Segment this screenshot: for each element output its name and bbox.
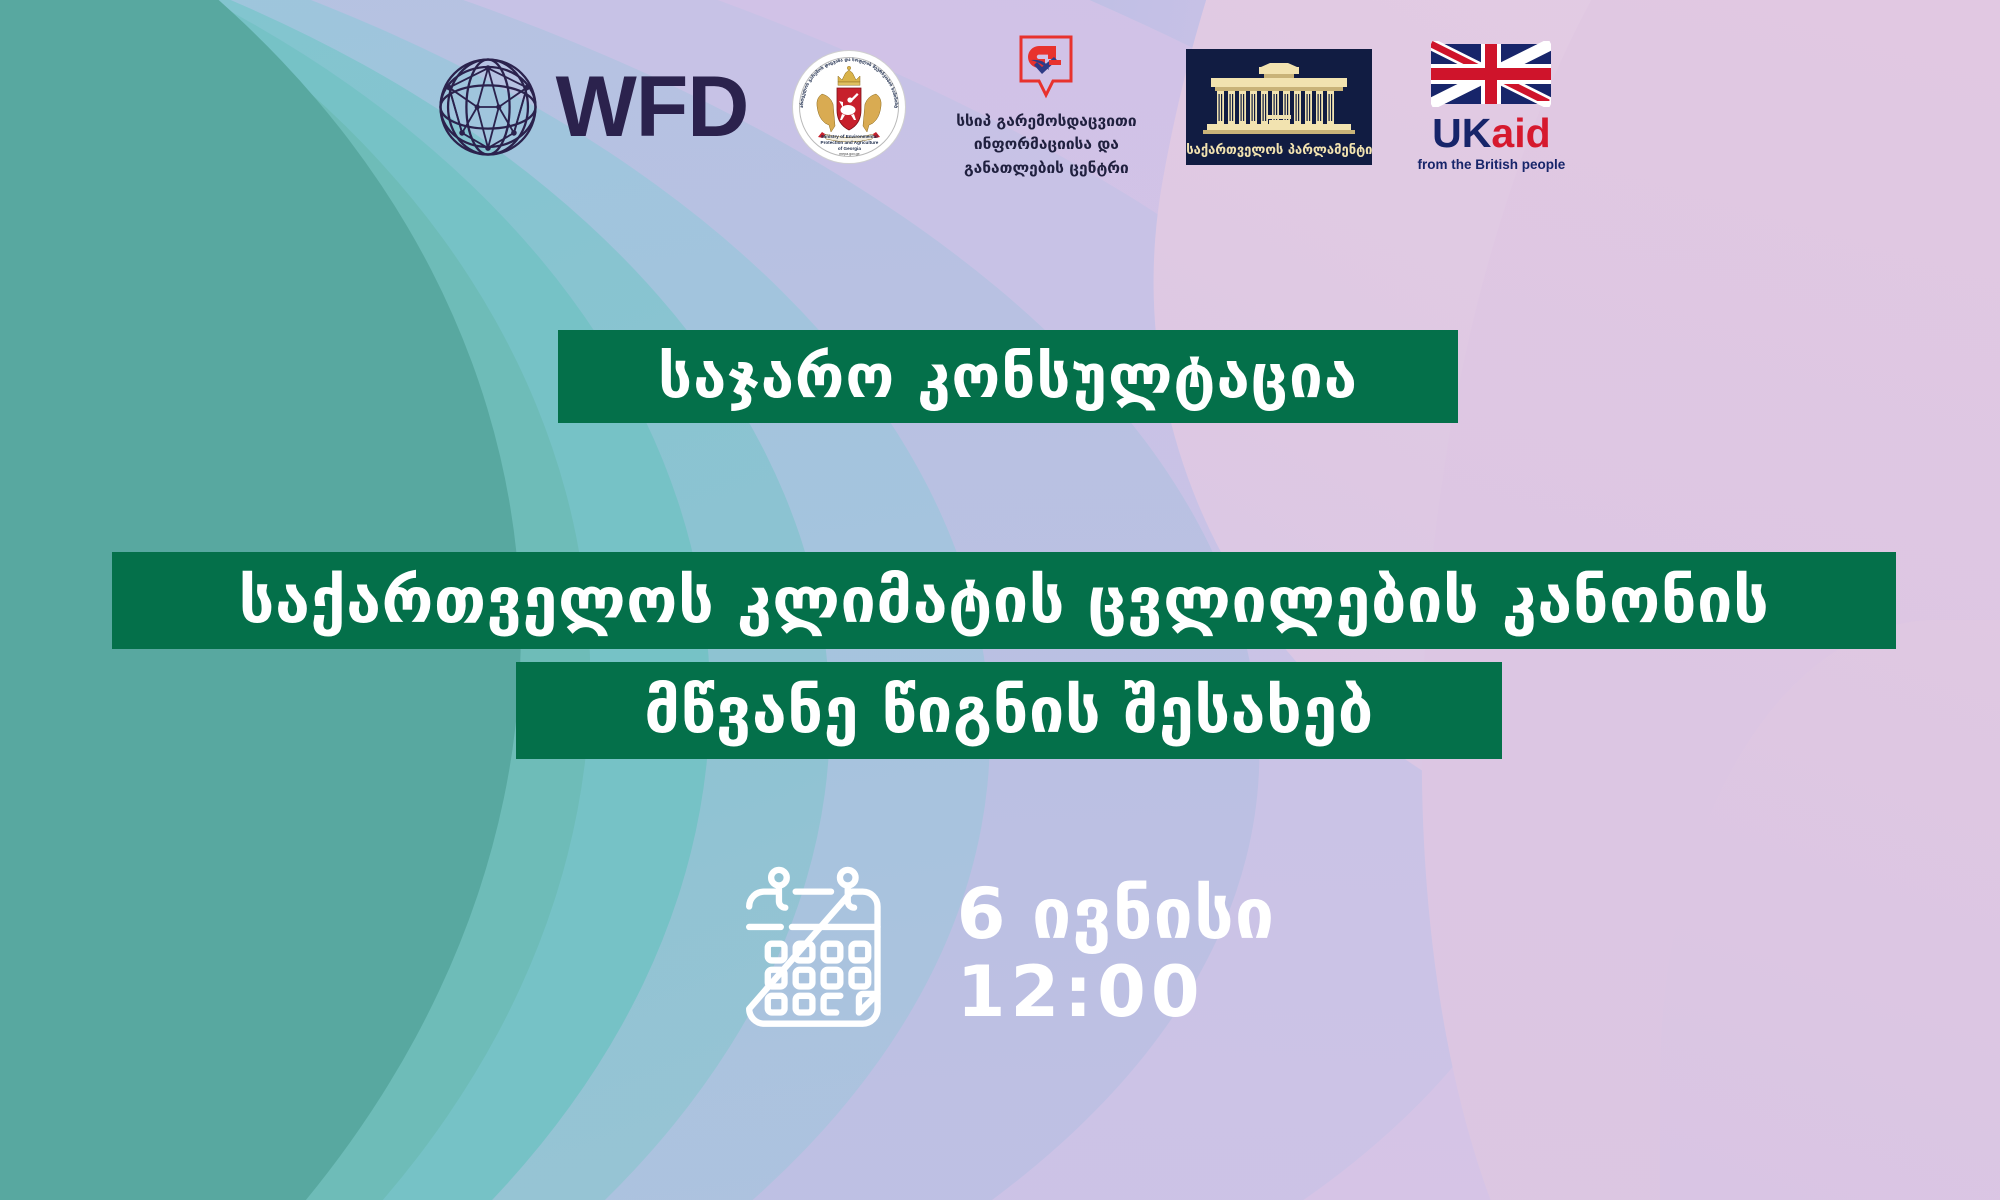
wfd-wordmark: WFD <box>556 64 749 150</box>
logo-ministry-seal: საქართველოს გარემოს დაცვისა და სოფლის მე… <box>792 50 906 164</box>
ukaid-tagline: from the British people <box>1418 157 1566 172</box>
globe-network-icon <box>434 53 542 161</box>
title-banner-line-2: მწვანე წიგნის შესახებ <box>516 662 1502 759</box>
event-time: 12:00 <box>957 953 1275 1031</box>
logo-parliament: საქართველოს პარლამენტი <box>1186 49 1372 165</box>
union-jack-flag-icon <box>1431 41 1551 107</box>
ukaid-wordmark: UKaid <box>1432 113 1550 154</box>
ukaid-aid-text: aid <box>1491 110 1550 156</box>
parliament-caption: საქართველოს პარლამენტი <box>1186 143 1372 158</box>
event-datetime-text: 6 ივნისი 12:00 <box>957 875 1275 1032</box>
eiec-caption-line-3: განათლების ცენტრი <box>956 157 1136 180</box>
parliament-building-icon <box>1195 63 1363 141</box>
title-banner-line-1: საქართველოს კლიმატის ცვლილების კანონის <box>112 552 1896 649</box>
partner-logo-row: WFD <box>0 34 2000 180</box>
seal-url: mepa.gov.ge <box>792 152 906 157</box>
kicker-banner: საჯარო კონსულტაცია <box>558 330 1458 423</box>
calendar-icon <box>725 860 911 1046</box>
eiec-shield-icon <box>1018 34 1074 100</box>
eiec-caption-line-1: სსიპ გარემოსდაცვითი <box>956 110 1136 133</box>
eiec-caption: სსიპ გარემოსდაცვითი ინფორმაციისა და განა… <box>956 110 1136 180</box>
ukaid-uk-text: UK <box>1432 110 1491 156</box>
logo-eiec: სსიპ გარემოსდაცვითი ინფორმაციისა და განა… <box>950 34 1142 180</box>
seal-subtitle: Ministry of Environmental Protection and… <box>792 134 906 157</box>
eiec-caption-line-2: ინფორმაციისა და <box>956 133 1136 156</box>
logo-ukaid: UKaid from the British people <box>1416 41 1566 172</box>
poster-canvas: WFD <box>0 0 2000 1200</box>
event-date: 6 ივნისი <box>957 875 1275 953</box>
logo-wfd: WFD <box>434 53 749 161</box>
event-datetime-block: 6 ივნისი 12:00 <box>0 860 2000 1046</box>
